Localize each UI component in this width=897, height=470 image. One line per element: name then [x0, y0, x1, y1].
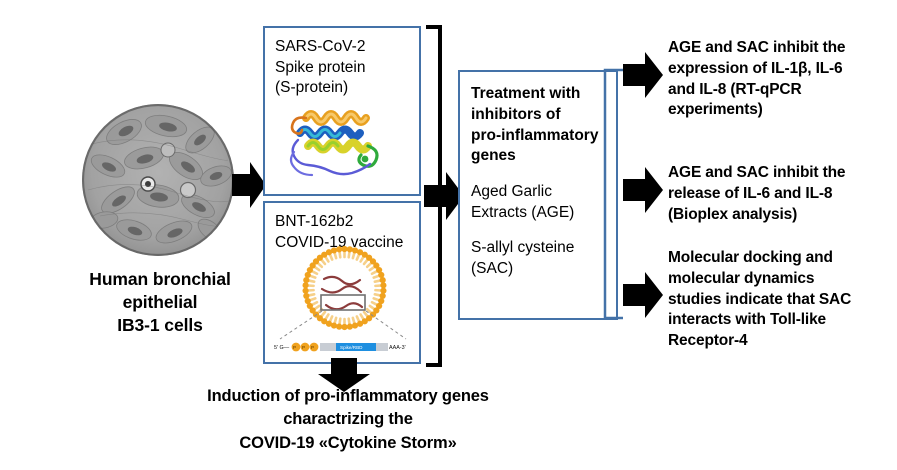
treatment-box-content: Treatment with inhibitors of pro-inflamm…	[460, 72, 616, 280]
treatment-item-age: Aged Garlic Extracts (AGE)	[471, 182, 616, 223]
arrow-result-1	[623, 50, 663, 100]
spike-protein-text: SARS-CoV-2 Spike protein (S-protein)	[265, 28, 419, 99]
mrna-construct: 5' G— P P P Spike/RBD AAA-3'	[274, 343, 406, 352]
spacer	[471, 167, 616, 182]
lipid-nanoparticle-figure: 5' G— P P P Spike/RBD AAA-3'	[272, 243, 417, 361]
micrograph-cells-drawing	[82, 104, 234, 256]
spike-protein-ribbon-figure	[282, 100, 402, 185]
svg-text:P: P	[293, 345, 296, 350]
arrow-result-3	[623, 270, 663, 320]
cell-micrograph	[82, 104, 234, 256]
svg-text:P: P	[311, 345, 314, 350]
graphical-abstract-canvas: Human bronchial epithelial IB3-1 cells S…	[0, 0, 897, 470]
arrow-cells-to-boxes	[232, 160, 266, 210]
result-text-1: AGE and SAC inhibit the expression of IL…	[668, 38, 883, 121]
arrow-result-2	[623, 165, 663, 215]
micrograph-circle	[82, 104, 234, 256]
svg-text:P: P	[302, 345, 305, 350]
cytokine-storm-caption: Induction of pro-inflammatory genes char…	[148, 385, 548, 455]
svg-text:AAA-3': AAA-3'	[389, 345, 406, 351]
spacer	[471, 223, 616, 238]
treatment-item-sac: S-allyl cysteine (SAC)	[471, 238, 616, 279]
treatment-title: Treatment with inhibitors of pro-inflamm…	[471, 84, 616, 167]
result-text-3: Molecular docking and molecular dynamics…	[668, 248, 883, 352]
svg-text:5' G—: 5' G—	[274, 345, 290, 351]
svg-text:Spike/RBD: Spike/RBD	[340, 345, 363, 350]
treatment-box: Treatment with inhibitors of pro-inflamm…	[458, 70, 618, 320]
cells-caption: Human bronchial epithelial IB3-1 cells	[40, 268, 280, 336]
result-text-2: AGE and SAC inhibit the release of IL-6 …	[668, 163, 883, 225]
